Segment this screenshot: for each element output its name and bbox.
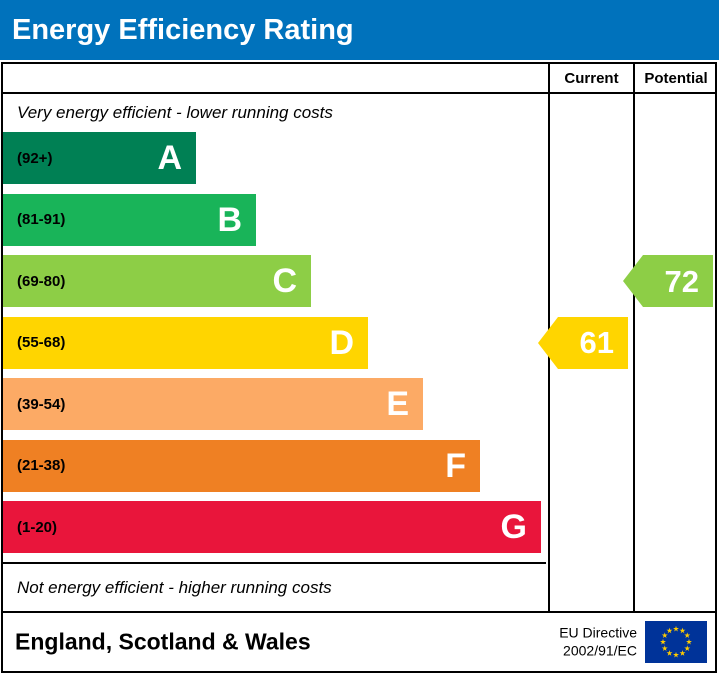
eu-directive-line2: 2002/91/EC xyxy=(559,642,637,660)
band-letter-g: G xyxy=(501,510,527,544)
epc-certificate: Energy Efficiency Rating Current Potenti… xyxy=(0,0,719,675)
rating-arrow-potential: 72 xyxy=(643,255,713,307)
band-a: (92+)A xyxy=(3,132,196,184)
eu-directive-text: EU Directive 2002/91/EC xyxy=(559,625,637,660)
rating-value-potential: 72 xyxy=(665,266,713,297)
band-letter-a: A xyxy=(157,141,182,175)
band-letter-f: F xyxy=(445,449,466,483)
band-range-f: (21-38) xyxy=(3,457,65,474)
band-range-c: (69-80) xyxy=(3,273,65,290)
rating-arrow-current: 61 xyxy=(558,317,628,369)
caption-top: Very energy efficient - lower running co… xyxy=(3,94,546,132)
eu-stars-icon xyxy=(645,621,707,663)
title-bar: Energy Efficiency Rating xyxy=(0,0,719,60)
caption-bottom-text: Not energy efficient - higher running co… xyxy=(3,578,332,598)
caption-top-text: Very energy efficient - lower running co… xyxy=(3,103,333,123)
band-letter-e: E xyxy=(386,387,409,421)
band-letter-b: B xyxy=(217,203,242,237)
chart-frame: Current Potential Very energy efficient … xyxy=(1,62,717,613)
band-range-a: (92+) xyxy=(3,150,52,167)
caption-bottom: Not energy efficient - higher running co… xyxy=(3,564,546,611)
band-range-d: (55-68) xyxy=(3,334,65,351)
band-f: (21-38)F xyxy=(3,440,480,492)
rating-arrow-tip-potential xyxy=(623,255,643,307)
band-list: (92+)A(81-91)B(69-80)C(55-68)D(39-54)E(2… xyxy=(3,132,546,562)
band-d: (55-68)D xyxy=(3,317,368,369)
footer: England, Scotland & Wales EU Directive 2… xyxy=(1,613,717,673)
column-header-row: Current Potential xyxy=(3,64,715,94)
column-divider-potential xyxy=(633,94,635,613)
band-range-g: (1-20) xyxy=(3,519,57,536)
column-header-current: Current xyxy=(548,64,633,92)
eu-flag-icon xyxy=(645,621,707,663)
footer-region: England, Scotland & Wales xyxy=(15,629,311,656)
page-title: Energy Efficiency Rating xyxy=(0,14,354,47)
band-letter-c: C xyxy=(272,264,297,298)
band-letter-d: D xyxy=(329,326,354,360)
band-g: (1-20)G xyxy=(3,501,541,553)
band-range-b: (81-91) xyxy=(3,211,65,228)
rating-value-current: 61 xyxy=(580,327,628,358)
band-c: (69-80)C xyxy=(3,255,311,307)
eu-directive-line1: EU Directive xyxy=(559,625,637,643)
band-b: (81-91)B xyxy=(3,194,256,246)
rating-arrow-tip-current xyxy=(538,317,558,369)
column-header-potential: Potential xyxy=(633,64,717,92)
band-e: (39-54)E xyxy=(3,378,423,430)
band-range-e: (39-54) xyxy=(3,396,65,413)
